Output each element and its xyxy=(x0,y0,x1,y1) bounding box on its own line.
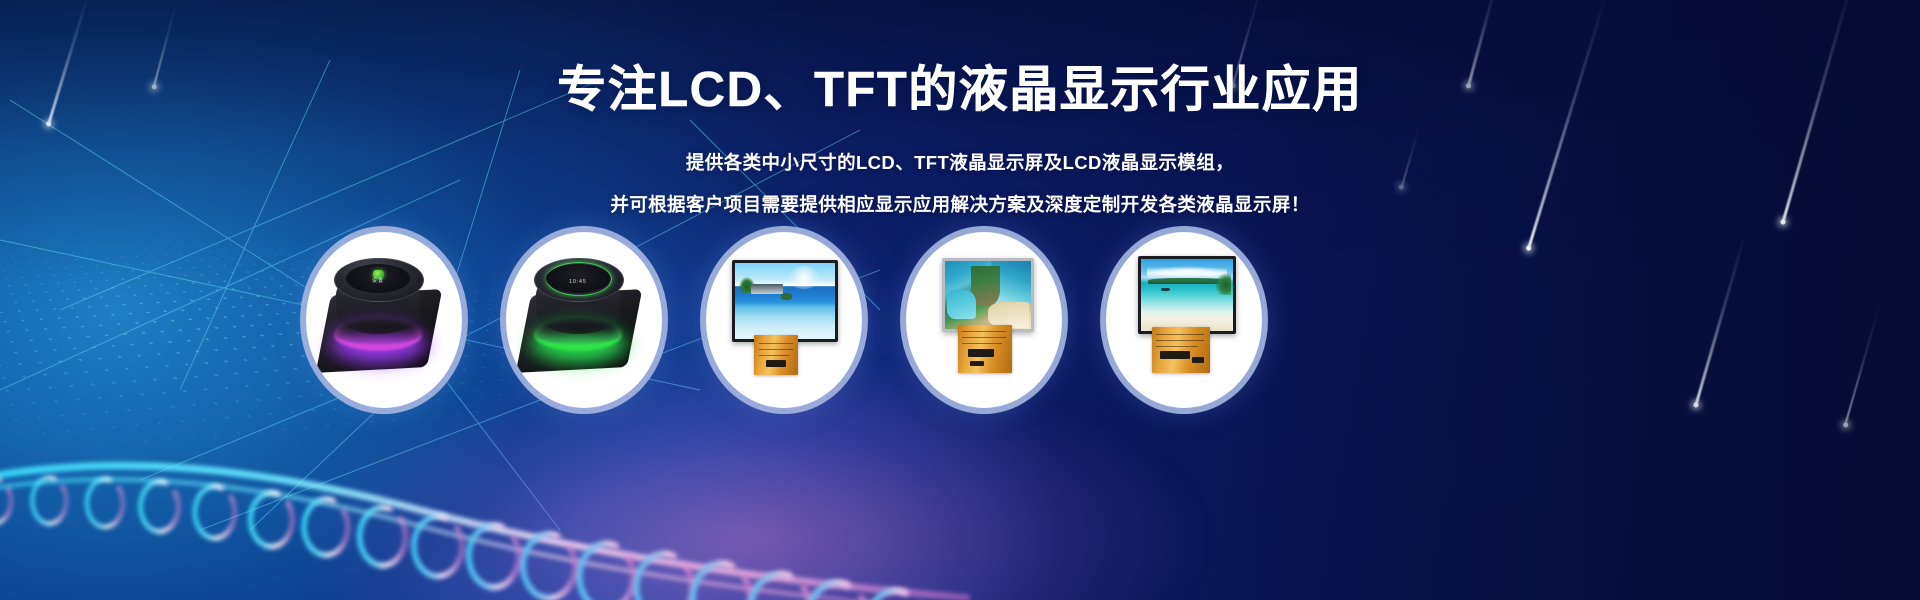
product-image-lcd-coast xyxy=(906,232,1062,408)
page-title: 专注LCD、TFT的液晶显示行业应用 xyxy=(0,64,1920,118)
subtitle-line-1: 提供各类中小尺寸的LCD、TFT液晶显示屏及LCD液晶显示模组， xyxy=(0,154,1920,173)
product-image-lcd-lagoon xyxy=(1106,232,1262,408)
scene-palm-trees xyxy=(1215,273,1232,295)
product-circle-1[interactable]: 设置 · · · · xyxy=(306,232,462,408)
lcd-screen-lagoon-scene xyxy=(1141,259,1233,331)
product-showcase-row: 设置 · · · · 10:45 xyxy=(0,232,1920,422)
scene-sun xyxy=(787,266,821,289)
device-display-face: 设置 · · · · xyxy=(346,264,410,293)
scene-lagoon xyxy=(947,290,976,320)
product-circle-5[interactable] xyxy=(1106,232,1262,408)
fpc-ribbon-cable xyxy=(754,335,798,375)
product-circle-4[interactable] xyxy=(906,232,1062,408)
scene-boat xyxy=(1161,288,1169,292)
fpc-ribbon-cable xyxy=(958,325,1012,373)
hero-banner: 专注LCD、TFT的液晶显示行业应用 提供各类中小尺寸的LCD、TFT液晶显示屏… xyxy=(0,0,1920,600)
hero-text-block: 专注LCD、TFT的液晶显示行业应用 提供各类中小尺寸的LCD、TFT液晶显示屏… xyxy=(0,64,1920,215)
scene-rock xyxy=(781,293,792,300)
product-circle-3[interactable] xyxy=(706,232,862,408)
device-screen-label: 设置 xyxy=(346,277,410,284)
device-display-face: 10:45 xyxy=(546,264,610,293)
product-circle-2[interactable]: 10:45 xyxy=(506,232,662,408)
led-ring-purple xyxy=(334,318,422,351)
scene-sand-beach xyxy=(988,302,1029,328)
lcd-screen-pool-scene xyxy=(735,263,835,339)
device-screen-label: 10:45 xyxy=(546,279,610,285)
device-screen-sublabel: · · · · xyxy=(346,284,410,288)
lcd-module-silver-bezel xyxy=(942,258,1034,332)
lcd-panel-black-bezel xyxy=(732,260,838,342)
scene-villa xyxy=(751,284,783,295)
subtitle-line-2: 并可根据客户项目需要提供相应显示应用解决方案及深度定制开发各类液晶显示屏！ xyxy=(0,196,1920,215)
led-ring-green xyxy=(534,318,622,351)
product-image-lcd-pool xyxy=(706,232,862,408)
product-image-round-speaker-green: 10:45 xyxy=(506,232,662,408)
lcd-panel-black-bezel xyxy=(1138,256,1236,334)
product-image-round-speaker-purple: 设置 · · · · xyxy=(306,232,462,408)
lcd-screen-coast-scene xyxy=(945,261,1031,329)
fpc-ribbon-cable xyxy=(1152,327,1210,373)
